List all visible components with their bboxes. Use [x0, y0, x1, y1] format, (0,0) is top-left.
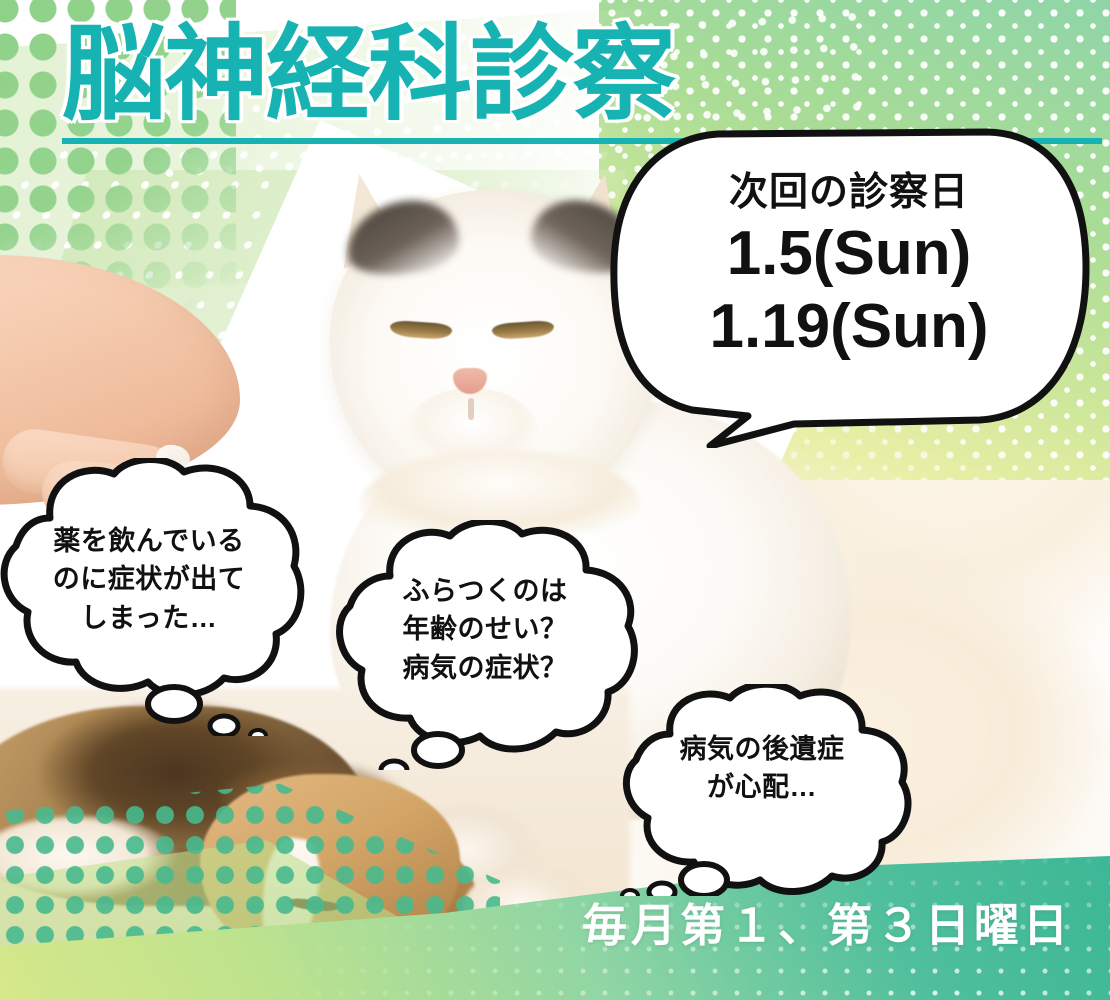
- thought-bubble-medication: 薬を飲んでいる のに症状が出て しまった…: [0, 458, 310, 736]
- poster-root: 脳神経科診察 次回の診察日 1.5(Sun) 1.19(Sun) 薬を飲んでいる…: [0, 0, 1110, 1000]
- schedule-banner: 毎月第１、第３日曜日: [0, 850, 1110, 1000]
- page-title: 脳神経科診察: [62, 22, 1102, 128]
- thought-bubble-shape: [0, 458, 310, 736]
- schedule-text: 毎月第１、第３日曜日: [582, 889, 1072, 954]
- speech-bubble-shape: [608, 128, 1090, 448]
- cat-mouth: [468, 398, 474, 420]
- thought-bubble-aftereffects: 病気の後遺症 が心配…: [608, 684, 916, 896]
- thought-bubble-shape: [320, 520, 650, 770]
- title-block: 脳神経科診察: [62, 22, 1102, 144]
- next-visit-speech-bubble: 次回の診察日 1.5(Sun) 1.19(Sun): [608, 128, 1090, 448]
- thought-bubble-wobbling: ふらつくのは 年齢のせい？ 病気の症状？: [320, 520, 650, 770]
- thought-bubble-shape: [608, 684, 916, 896]
